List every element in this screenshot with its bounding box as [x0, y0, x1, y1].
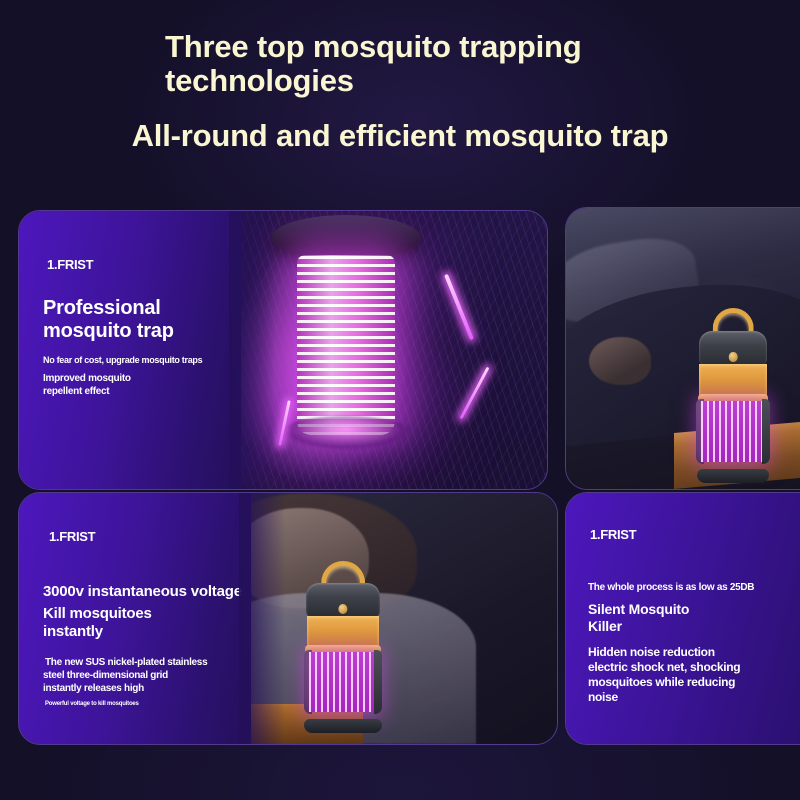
card-3-body-line-1: The new SUS nickel-plated stainless: [45, 656, 207, 669]
card-3-title-line-3: instantly: [43, 623, 103, 641]
headline-line-3: All-round and efficient mosquito trap: [0, 119, 800, 153]
card-4-body-line-3: mosquitoes while reducing: [588, 675, 735, 690]
card-4-title-line-1: Silent Mosquito: [588, 601, 689, 618]
device-shell-right: [762, 399, 770, 464]
trap-base-glow: [280, 416, 412, 450]
card-4-eyebrow: 1.FRIST: [590, 527, 636, 542]
card-3-title-line-2: Kill mosquitoes: [43, 605, 152, 623]
card-1-title-line-2: mosquito trap: [43, 320, 174, 343]
card-4-title-line-2: Killer: [588, 618, 622, 635]
card-3-text-panel: 1.FRIST 3000v instantaneous voltage Kill…: [19, 493, 251, 744]
device-gold-band: [699, 364, 766, 396]
card-3-body-line-2: steel three-dimensional grid: [43, 669, 168, 682]
card-1-text-panel: 1.FRIST Professional mosquito trap No fe…: [19, 211, 241, 489]
card-3-eyebrow: 1.FRIST: [49, 529, 95, 544]
card-4-text-panel: 1.FRIST The whole process is as low as 2…: [566, 493, 800, 744]
device-power-knob: [729, 352, 738, 363]
headline-line-2: technologies: [165, 64, 635, 98]
device-shell-right: [374, 650, 382, 714]
card-1-title-line-1: Professional: [43, 297, 161, 320]
card-1-body-line-1: No fear of cost, upgrade mosquito traps: [43, 354, 202, 366]
card-4-body-line-1: Hidden noise reduction: [588, 645, 715, 660]
card-4-body-line-2: electric shock net, shocking: [588, 660, 740, 675]
mosquito-trap-device: [694, 308, 772, 483]
card-3-body-line-3: instantly releases high: [43, 682, 144, 695]
device-gold-band: [307, 616, 379, 647]
card-1-body-line-3: repellent effect: [43, 385, 109, 398]
sleeping-person-head: [589, 337, 651, 385]
page-headline: Three top mosquito trapping technologies…: [0, 0, 800, 153]
feature-card-voltage: 1.FRIST 3000v instantaneous voltage Kill…: [18, 492, 558, 745]
mosquito-trap-device: [301, 561, 385, 733]
card-3-footnote: Powerful voltage to kill mosquitoes: [45, 700, 139, 708]
feature-card-bedroom-photo: [565, 207, 800, 490]
card-4-body-line-4: noise: [588, 690, 618, 705]
card-1-eyebrow: 1.FRIST: [47, 257, 93, 272]
headline-line-1: Three top mosquito trapping: [165, 30, 635, 64]
trap-grid-shape: [297, 255, 395, 435]
device-base: [697, 469, 769, 483]
card-4-body-top: The whole process is as low as 25DB: [588, 581, 754, 594]
device-uv-grid: [309, 652, 378, 712]
card-1-body-line-2: Improved mosquito: [43, 372, 131, 385]
card-3-title-line-1: 3000v instantaneous voltage: [43, 583, 242, 601]
product-feature-page: Three top mosquito trapping technologies…: [0, 0, 800, 800]
device-base: [304, 719, 381, 733]
trap-cap-shape: [271, 215, 421, 261]
feature-card-professional-trap: 1.FRIST Professional mosquito trap No fe…: [18, 210, 548, 490]
device-uv-grid: [701, 401, 765, 462]
feature-card-silent-killer: 1.FRIST The whole process is as low as 2…: [565, 492, 800, 745]
